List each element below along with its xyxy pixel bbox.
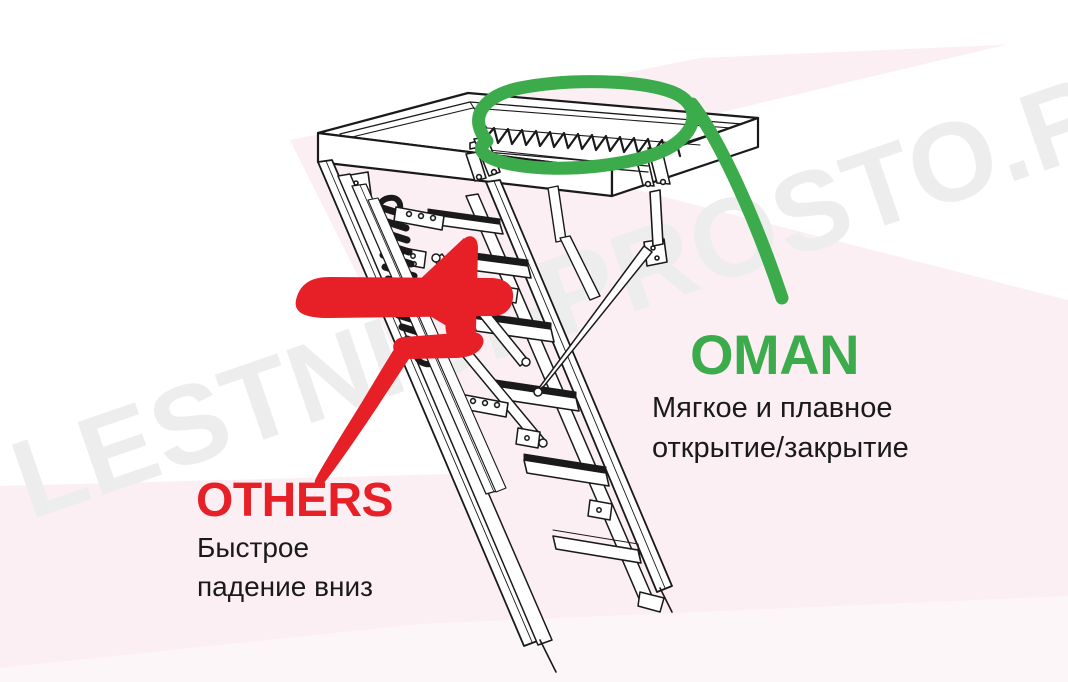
red-marker-annotation bbox=[0, 0, 1068, 682]
oman-callout-title: OMAN bbox=[690, 327, 859, 383]
oman-callout-line-1: Мягкое и плавное bbox=[652, 394, 892, 423]
red-arrow-point bbox=[400, 238, 470, 340]
others-callout-line-1: Быстрое bbox=[197, 534, 309, 562]
others-callout-line-2: падение вниз bbox=[197, 573, 373, 601]
oman-callout-line-2: открытие/закрытие bbox=[652, 434, 909, 463]
illustration-canvas: LESTNICI-PROSTO.RU bbox=[0, 0, 1068, 682]
red-arrow-tail bbox=[315, 340, 416, 487]
others-callout-title: OTHERS bbox=[196, 477, 393, 525]
